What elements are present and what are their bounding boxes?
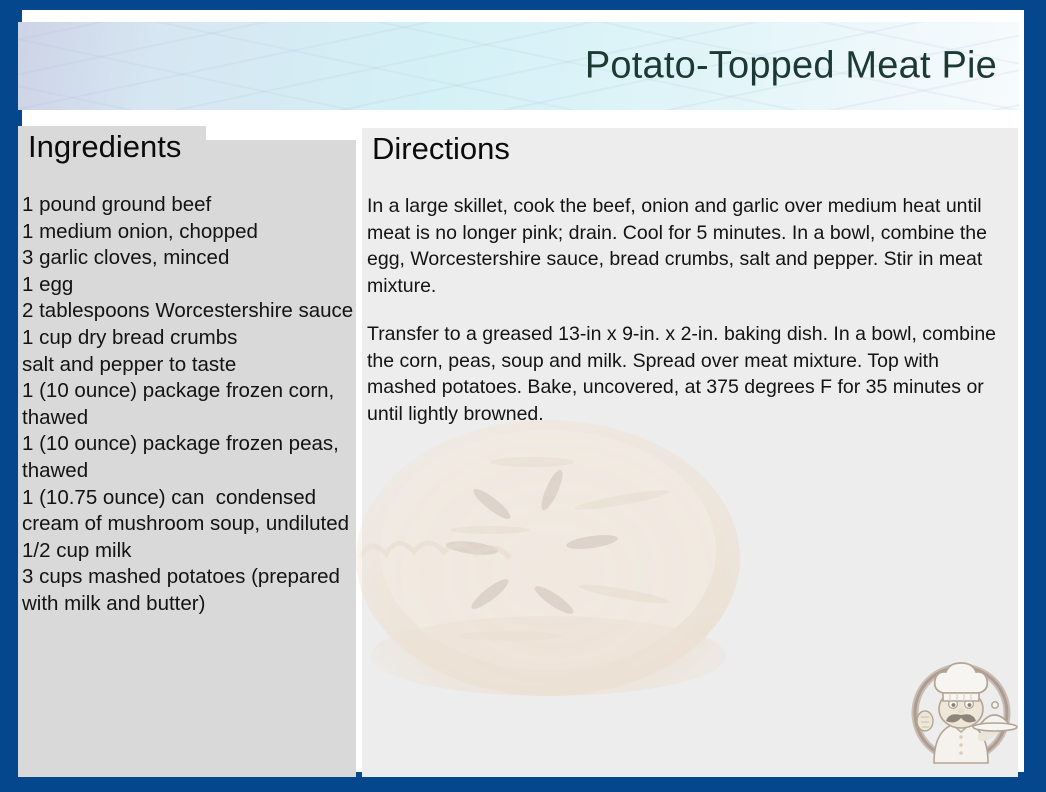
directions-paragraph: In a large skillet, cook the beef, onion… — [367, 193, 1004, 299]
tab-ingredients: Ingredients — [18, 126, 206, 168]
ingredients-list: 1 pound ground beef 1 medium onion, chop… — [22, 192, 356, 618]
title-banner: Potato-Topped Meat Pie — [18, 22, 1019, 110]
directions-heading: Directions — [372, 131, 510, 167]
tab-directions: Directions — [362, 128, 530, 170]
chef-logo-icon — [898, 645, 1024, 771]
page-title: Potato-Topped Meat Pie — [585, 45, 997, 88]
directions-text: In a large skillet, cook the beef, onion… — [367, 193, 1004, 427]
recipe-card: Potato-Topped Meat Pie — [0, 0, 1046, 792]
directions-paragraph: Transfer to a greased 13-in x 9-in. x 2-… — [367, 321, 1004, 427]
ingredients-heading: Ingredients — [28, 129, 181, 165]
